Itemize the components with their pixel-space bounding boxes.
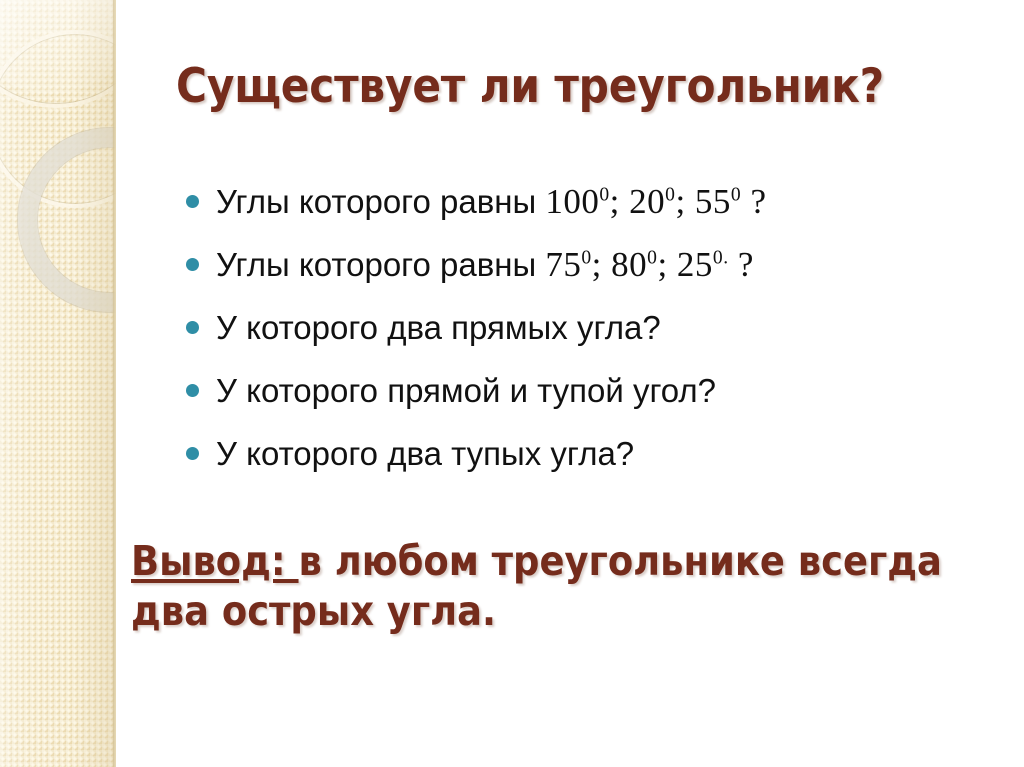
angle-value-1: 750; — [545, 245, 611, 284]
bullet-text: Углы которого равны 750; 800; 250. ? — [216, 247, 754, 282]
sidebar-right-edge — [113, 0, 116, 767]
bullet-dot-icon — [186, 258, 199, 271]
bullet-text: У которого два тупых угла? — [216, 437, 634, 470]
conclusion-text: Вывод: в любом треугольнике всегда два о… — [131, 536, 961, 636]
slide-title: Существует ли треугольник? — [176, 62, 976, 111]
sidebar-sheen — [0, 0, 116, 767]
bullet-dot-icon — [186, 321, 199, 334]
angle-value-2: 200; — [629, 182, 695, 221]
sidebar-top-highlight — [0, 0, 116, 86]
bullet-lead: Углы которого равны — [216, 246, 545, 283]
list-item: Углы которого равны 1000; 200; 550 ? — [186, 170, 1006, 233]
bullet-text: У которого прямой и тупой угол? — [216, 374, 716, 407]
bullet-dot-icon — [186, 195, 199, 208]
angle-value-3: 550 ? — [695, 182, 767, 221]
angle-value-3: 250. ? — [677, 245, 754, 284]
list-item: Углы которого равны 750; 800; 250. ? — [186, 233, 1006, 296]
angle-value-1: 1000; — [545, 182, 629, 221]
bullet-list: Углы которого равны 1000; 200; 550 ? Угл… — [186, 170, 1006, 485]
slide-canvas: Существует ли треугольник? Углы которого… — [0, 0, 1024, 767]
bullet-dot-icon — [186, 447, 199, 460]
bullet-text: Углы которого равны 1000; 200; 550 ? — [216, 184, 767, 219]
bullet-text: У которого два прямых угла? — [216, 311, 661, 344]
bullet-dot-icon — [186, 384, 199, 397]
bullet-lead: Углы которого равны — [216, 183, 545, 220]
list-item: У которого прямой и тупой угол? — [186, 359, 1006, 422]
list-item: У которого два прямых угла? — [186, 296, 1006, 359]
angle-value-2: 800; — [611, 245, 677, 284]
decorative-sidebar-panel — [0, 0, 116, 767]
conclusion-label: Вывод: — [131, 537, 299, 585]
list-item: У которого два тупых угла? — [186, 422, 1006, 485]
